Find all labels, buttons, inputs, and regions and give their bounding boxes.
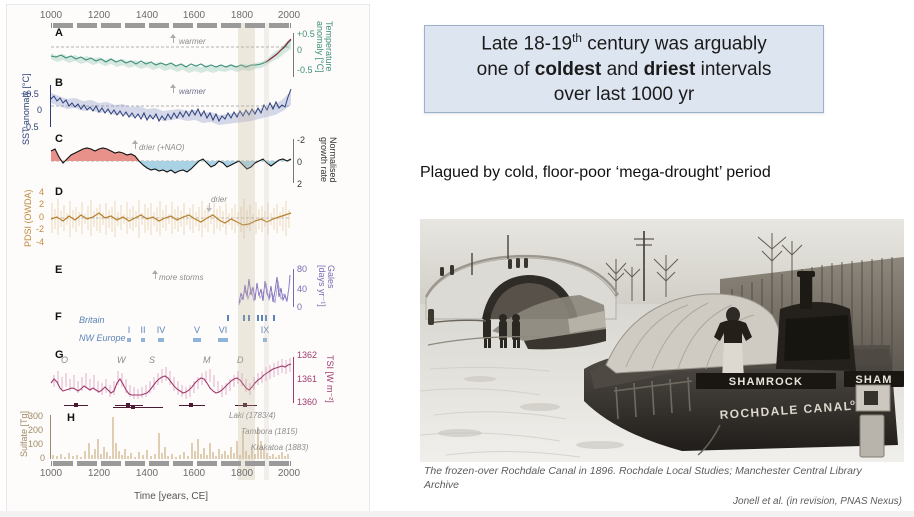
panel-label-g: G <box>55 349 64 361</box>
panel-a-ytick-1: 0 <box>297 45 302 55</box>
panel-a-annotation: warmer <box>179 37 206 46</box>
panel-g-ytick-2: 1360 <box>297 397 317 407</box>
xtick-bot-1000: 1000 <box>40 468 62 479</box>
nweurope-block <box>127 338 131 342</box>
panel-f-roman-iv: IV <box>157 325 166 335</box>
panel-c-ytick-2: 2 <box>297 179 302 189</box>
statement-text: Plagued by cold, floor-poor ‘mega-drough… <box>420 164 890 182</box>
nweurope-block <box>193 338 201 342</box>
source-credit: Jonell et al. (in revision, PNAS Nexus) <box>424 496 902 507</box>
panel-c-axis <box>293 139 294 183</box>
highlight-band-1890s <box>264 23 269 480</box>
panel-b-plot: warmer <box>51 83 291 129</box>
xtick-bot-1600: 1600 <box>183 468 205 479</box>
xtick-top-2000: 2000 <box>278 10 300 21</box>
panel-h-ylabel: Sulfate [Tg] <box>19 411 29 457</box>
panel-e-axis <box>293 269 294 307</box>
xtick-top-1400: 1400 <box>136 10 158 21</box>
figure-x-title: Time [years, CE] <box>51 491 291 502</box>
panel-h-axis <box>50 415 51 459</box>
slide-bottom-bar <box>0 511 914 517</box>
solar-min-sporer: S <box>149 355 155 365</box>
svg-text:SHAM: SHAM <box>855 374 892 386</box>
panel-d-ytick-4: -4 <box>36 237 44 247</box>
panel-h-ytick-3: 0 <box>40 453 45 463</box>
panel-c-annotation: drier (+NAO) <box>139 143 185 152</box>
callout-line1-post: century was arguably <box>582 34 767 55</box>
figure-top-axis: 1000 1200 1400 1600 1800 2000 <box>51 11 291 29</box>
panel-c-ylabel: Normalised growth rate <box>318 137 337 191</box>
solar-min-maunder: M <box>203 355 211 365</box>
panel-e-plot: more storms <box>51 267 291 309</box>
panel-h-ytick-1: 200 <box>28 425 43 435</box>
panel-label-h: H <box>67 412 75 424</box>
panel-e-ytick-1: 40 <box>297 284 307 294</box>
panel-f-markers: I II IV V VI IX <box>51 313 291 347</box>
panel-label-d: D <box>55 186 63 198</box>
panel-h-ytick-2: 100 <box>28 439 43 449</box>
svg-text:o: o <box>850 398 855 407</box>
panel-f-roman-v: V <box>194 325 200 335</box>
paleoclimate-figure: 1000 1200 1400 1600 1800 2000 A warmer <box>6 4 370 515</box>
slide-root: 1000 1200 1400 1600 1800 2000 A warmer <box>0 0 914 517</box>
eruption-krakatoa: Krakatoa (1883) <box>251 443 308 452</box>
panel-d-ytick-3: -2 <box>36 224 44 234</box>
panel-label-e: E <box>55 264 62 276</box>
nweurope-block <box>158 338 164 342</box>
britain-marker <box>257 315 259 321</box>
panel-g-ytick-0: 1362 <box>297 350 317 360</box>
panel-e-annotation: more storms <box>159 273 203 282</box>
panel-c-ytick-0: -2 <box>297 135 305 145</box>
callout-line2-a: one of <box>477 59 535 80</box>
panel-f-roman-ii: II <box>140 325 145 335</box>
panel-a-ytick-2: -0.5 <box>297 65 313 75</box>
panel-g-plot: O W S M D <box>51 357 291 405</box>
britain-marker <box>273 315 275 321</box>
callout-line1-pre: Late 18-19 <box>481 34 572 55</box>
callout-text: Late 18-19th century was arguably one of… <box>463 31 786 107</box>
xtick-top-1200: 1200 <box>88 10 110 21</box>
xtick-bot-1200: 1200 <box>88 468 110 479</box>
panel-e-ylabel: Gales [days yr⁻¹] <box>316 265 335 307</box>
xtick-top-1800: 1800 <box>231 10 253 21</box>
callout-line2-c: and <box>601 59 643 80</box>
panel-a-axis <box>293 33 294 77</box>
panel-g-axis <box>293 357 294 403</box>
panel-a-ytick-0: +0.5 <box>297 29 315 39</box>
panel-b-ytick-1: 0 <box>37 105 42 115</box>
panel-d-ytick-0: 4 <box>39 187 44 197</box>
panel-d-ytick-2: 0 <box>39 212 44 222</box>
xtick-bot-1400: 1400 <box>136 468 158 479</box>
photo-caption: The frozen-over Rochdale Canal in 1896. … <box>424 464 894 492</box>
panel-b-axis <box>50 85 51 127</box>
panel-e-ytick-0: 80 <box>297 264 307 274</box>
panel-b-ylabel: SST anomaly [°C] <box>21 74 31 145</box>
svg-text:SHAMROCK: SHAMROCK <box>729 376 803 388</box>
panel-label-b: B <box>55 77 63 89</box>
solar-min-wolf: W <box>117 355 126 365</box>
panel-d-ylabel: PDSI (OWDA) <box>23 190 33 248</box>
callout-emphasis-coldest: coldest <box>535 59 602 80</box>
panel-f-roman-i: I <box>128 325 131 335</box>
callout-line2-e: intervals <box>695 59 771 80</box>
xtick-top-1000: 1000 <box>40 10 62 21</box>
xtick-bot-2000: 2000 <box>278 468 300 479</box>
nweurope-block <box>218 338 228 342</box>
panel-g-ytick-1: 1361 <box>297 374 317 384</box>
panel-d-plot: drier <box>51 191 291 245</box>
panel-f-roman-vi: VI <box>219 325 228 335</box>
panel-d-annotation: drier <box>211 195 227 204</box>
figure-bottom-axis: 1000 1200 1400 1600 1800 2000 <box>51 461 291 479</box>
panel-label-a: A <box>55 27 63 39</box>
panel-d-ytick-1: 2 <box>39 199 44 209</box>
panel-label-f: F <box>55 311 62 323</box>
historical-photo: SHAMROCK SHAM ROCHDALE CANAL C o <box>420 219 904 462</box>
callout-emphasis-driest: driest <box>644 59 696 80</box>
callout-box: Late 18-19th century was arguably one of… <box>424 25 824 113</box>
panel-b-annotation: warmer <box>179 87 206 96</box>
xtick-top-1600: 1600 <box>183 10 205 21</box>
nweurope-block <box>141 338 145 342</box>
britain-marker <box>227 315 229 321</box>
panel-h-ytick-0: 300 <box>28 411 43 421</box>
callout-ordinal-suffix: th <box>572 32 582 45</box>
panel-g-ylabel: TSI [W m⁻²] <box>324 355 335 403</box>
panel-e-ytick-2: 0 <box>297 302 302 312</box>
xtick-bot-1800: 1800 <box>231 468 253 479</box>
highlight-band-1780-1850 <box>238 23 255 480</box>
panel-c-plot: drier (+NAO) <box>51 137 291 185</box>
panel-a-ylabel: Temperature anomaly [°C] <box>314 21 333 83</box>
panel-a-plot: warmer <box>51 31 291 79</box>
panel-label-c: C <box>55 133 63 145</box>
panel-e-annotation-text: more storms <box>159 273 203 282</box>
panel-c-ytick-1: 0 <box>297 157 302 167</box>
britain-marker <box>261 315 263 321</box>
callout-line3: over last 1000 yr <box>554 84 694 105</box>
